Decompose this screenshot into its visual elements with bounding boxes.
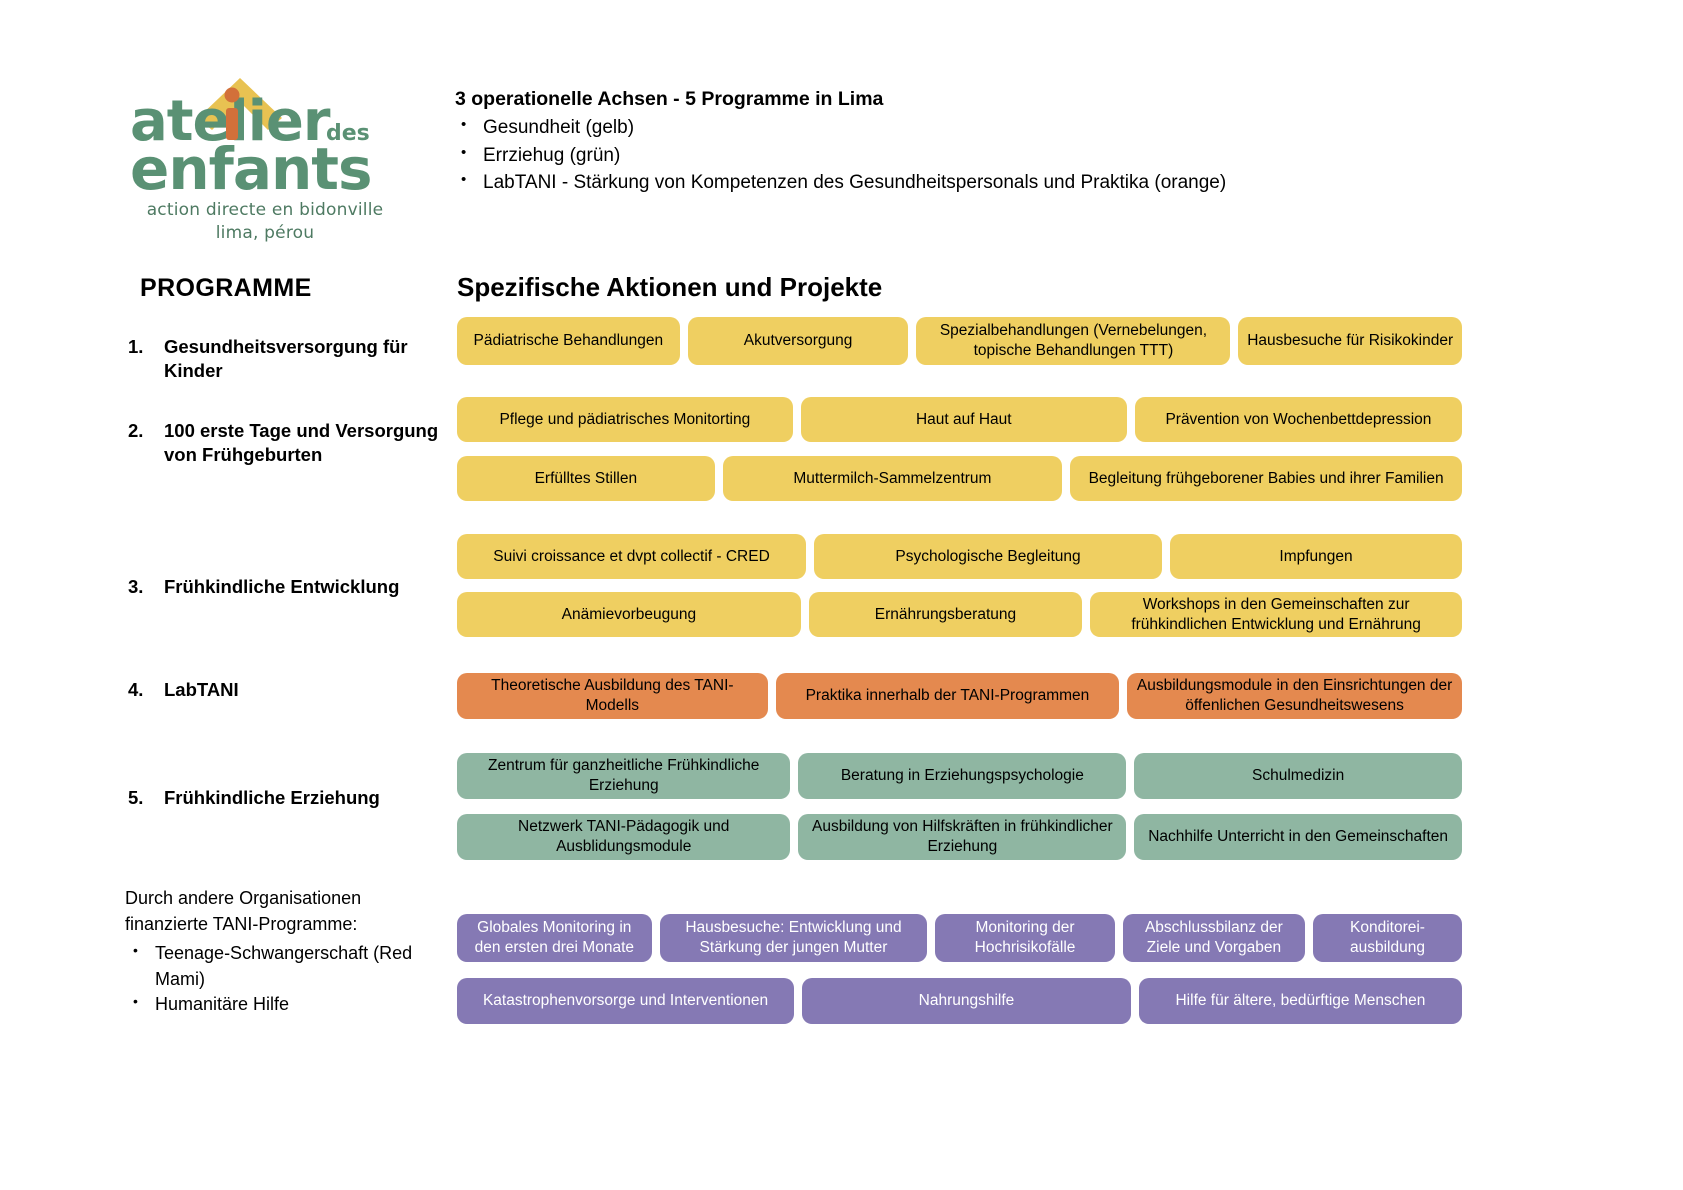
action-box[interactable]: Muttermilch-Sammelzentrum <box>723 456 1063 501</box>
program-name: Frühkindliche Erziehung <box>164 786 458 810</box>
action-box[interactable]: Schulmedizin <box>1134 753 1462 799</box>
header-bullet-item: LabTANI - Stärkung von Kompetenzen des G… <box>455 169 1435 197</box>
program-label-2: 2.100 erste Tage und Versorgung von Früh… <box>128 419 458 468</box>
action-box[interactable]: Katastrophenvorsorge und Interventionen <box>457 978 794 1024</box>
action-box[interactable]: Konditorei-ausbildung <box>1313 914 1462 962</box>
funding-note-bullets: Teenage-Schwangerschaft (Red Mami) Human… <box>125 941 445 1018</box>
action-box[interactable]: Nahrungshilfe <box>802 978 1131 1024</box>
header-bullet-item: Gesundheit (gelb) <box>455 114 1435 142</box>
program-name: Gesundheitsversorgung für Kinder <box>164 335 458 384</box>
action-box[interactable]: Erfülltes Stillen <box>457 456 715 501</box>
program-name: LabTANI <box>164 678 458 702</box>
header-block: 3 operationelle Achsen - 5 Programme in … <box>455 86 1435 197</box>
program-number: 5. <box>128 786 164 810</box>
action-box[interactable]: Begleitung frühgeborener Babies und ihre… <box>1070 456 1462 501</box>
action-row-1: Pädiatrische BehandlungenAkutversorgungS… <box>457 317 1462 365</box>
action-row-8: Netzwerk TANI-Pädagogik und Ausblidungsm… <box>457 814 1462 860</box>
action-box[interactable]: Ausbildungsmodule in den Einsrichtungen … <box>1127 673 1462 719</box>
program-number: 4. <box>128 678 164 702</box>
action-row-2: Pflege und pädiatrisches MonitortingHaut… <box>457 397 1462 442</box>
action-box[interactable]: Zentrum für ganzheitliche Frühkindliche … <box>457 753 790 799</box>
action-row-5: AnämievorbeugungErnährungsberatungWorksh… <box>457 592 1462 637</box>
action-box[interactable]: Beratung in Erziehungspsychologie <box>798 753 1126 799</box>
program-number: 2. <box>128 419 164 468</box>
action-box[interactable]: Nachhilfe Unterricht in den Gemeinschaft… <box>1134 814 1462 860</box>
action-row-4: Suivi croissance et dvpt collectif - CRE… <box>457 534 1462 579</box>
atelier-des-enfants-logo-mark: atelier des enfants <box>130 62 400 197</box>
logo-tagline-line2: lima, pérou <box>130 222 400 245</box>
action-box[interactable]: Psychologische Begleitung <box>814 534 1162 579</box>
action-row-6: Theoretische Ausbildung des TANI-Modells… <box>457 673 1462 719</box>
funding-note-bullet: Teenage-Schwangerschaft (Red Mami) <box>125 941 445 992</box>
action-box[interactable]: Globales Monitoring in den ersten drei M… <box>457 914 652 962</box>
funding-note-line2: finanzierte TANI-Programme: <box>125 912 445 938</box>
program-name: 100 erste Tage und Versorgung von Frühge… <box>164 419 458 468</box>
action-box[interactable]: Ernährungsberatung <box>809 592 1082 637</box>
action-box[interactable]: Ausbildung von Hilfskräften in frühkindl… <box>798 814 1126 860</box>
action-box[interactable]: Hilfe für ältere, bedürftige Menschen <box>1139 978 1462 1024</box>
svg-text:enfants: enfants <box>130 135 372 197</box>
action-box[interactable]: Haut auf Haut <box>801 397 1127 442</box>
action-box[interactable]: Hausbesuche: Entwicklung und Stärkung de… <box>660 914 928 962</box>
action-box[interactable]: Spezialbehandlungen (Vernebelungen, topi… <box>916 317 1230 365</box>
header-bullet-list: Gesundheit (gelb) Errziehug (grün) LabTA… <box>455 114 1435 197</box>
action-box[interactable]: Anämievorbeugung <box>457 592 801 637</box>
brand-logo: atelier des enfants action directe en bi… <box>130 62 400 245</box>
program-label-5: 5.Frühkindliche Erziehung <box>128 786 458 810</box>
logo-tagline-line1: action directe en bidonville <box>130 199 400 222</box>
program-label-1: 1.Gesundheitsversorgung für Kinder <box>128 335 458 384</box>
program-label-4: 4.LabTANI <box>128 678 458 702</box>
action-box[interactable]: Suivi croissance et dvpt collectif - CRE… <box>457 534 806 579</box>
action-box[interactable]: Prävention von Wochenbettdepression <box>1135 397 1462 442</box>
funding-note-bullet: Humanitäre Hilfe <box>125 992 445 1018</box>
action-row-7: Zentrum für ganzheitliche Frühkindliche … <box>457 753 1462 799</box>
action-box[interactable]: Netzwerk TANI-Pädagogik und Ausblidungsm… <box>457 814 790 860</box>
action-row-10: Katastrophenvorsorge und InterventionenN… <box>457 978 1462 1024</box>
action-box[interactable]: Abschlussbilanz der Ziele und Vorgaben <box>1123 914 1305 962</box>
column-title-actions: Spezifische Aktionen und Projekte <box>457 272 882 303</box>
action-box[interactable]: Praktika innerhalb der TANI-Programmen <box>776 673 1119 719</box>
header-title: 3 operationelle Achsen - 5 Programme in … <box>455 86 1435 112</box>
funding-note-line1: Durch andere Organisationen <box>125 886 445 912</box>
action-box[interactable]: Workshops in den Gemeinschaften zur früh… <box>1090 592 1462 637</box>
action-box[interactable]: Hausbesuche für Risikokinder <box>1238 317 1462 365</box>
action-box[interactable]: Pflege und pädiatrisches Monitorting <box>457 397 793 442</box>
action-box[interactable]: Pädiatrische Behandlungen <box>457 317 680 365</box>
action-box[interactable]: Theoretische Ausbildung des TANI-Modells <box>457 673 768 719</box>
action-box[interactable]: Monitoring der Hochrisikofälle <box>935 914 1114 962</box>
action-box[interactable]: Akutversorgung <box>688 317 909 365</box>
header-bullet-item: Errziehug (grün) <box>455 142 1435 170</box>
program-name: Frühkindliche Entwicklung <box>164 575 458 599</box>
program-label-3: 3.Frühkindliche Entwicklung <box>128 575 458 599</box>
funding-note-block: Durch andere Organisationen finanzierte … <box>125 886 445 1018</box>
program-number: 1. <box>128 335 164 384</box>
action-row-3: Erfülltes StillenMuttermilch-Sammelzentr… <box>457 456 1462 501</box>
program-number: 3. <box>128 575 164 599</box>
column-title-programme: PROGRAMME <box>140 274 312 303</box>
action-row-9: Globales Monitoring in den ersten drei M… <box>457 914 1462 962</box>
action-box[interactable]: Impfungen <box>1170 534 1462 579</box>
